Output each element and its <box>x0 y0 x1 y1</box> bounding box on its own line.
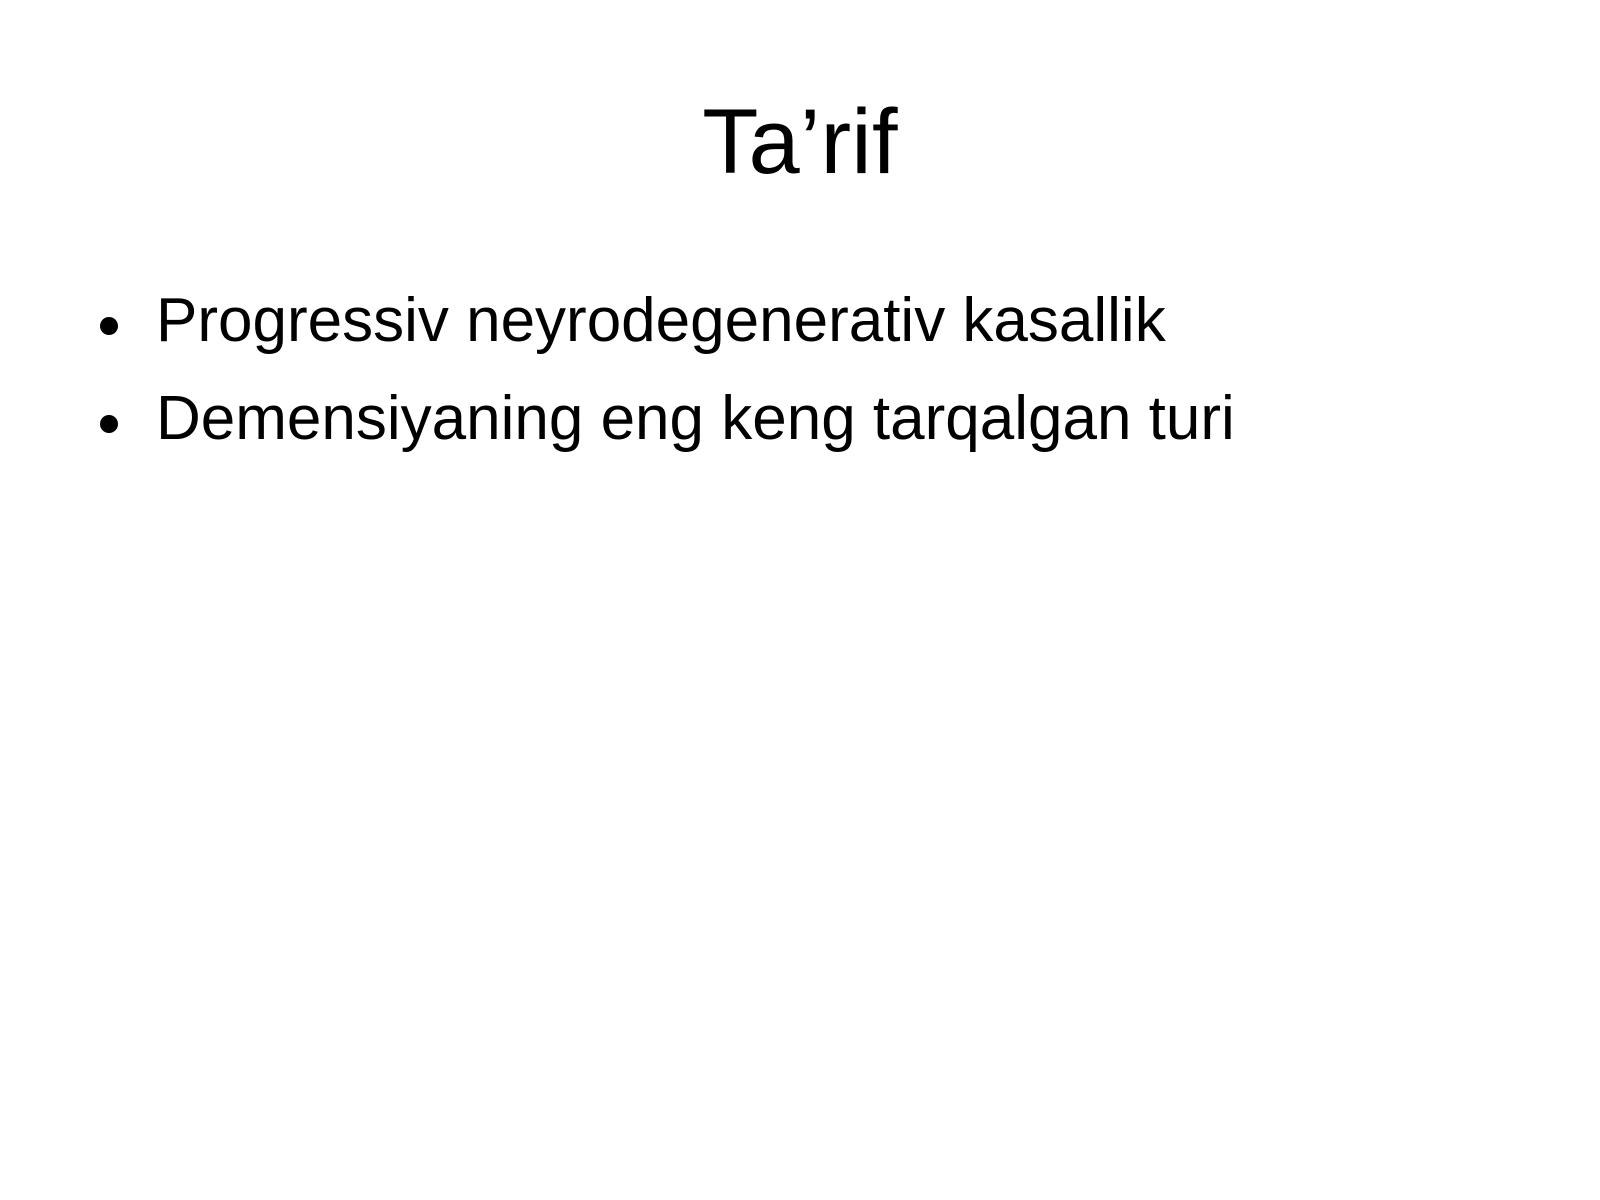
list-item-label: Progressiv neyrodegenerativ kasallik <box>156 290 1166 352</box>
list-item: Demensiyaning eng keng tarqalgan turi <box>88 388 1528 450</box>
presentation-slide: Ta’rif Progressiv neyrodegenerativ kasal… <box>0 0 1600 1200</box>
bullet-list: Progressiv neyrodegenerativ kasallik Dem… <box>88 290 1528 450</box>
bullet-dot-icon <box>100 415 118 433</box>
slide-body: Progressiv neyrodegenerativ kasallik Dem… <box>88 290 1528 450</box>
page-title: Ta’rif <box>0 96 1600 188</box>
list-item-label: Demensiyaning eng keng tarqalgan turi <box>156 388 1235 450</box>
list-item: Progressiv neyrodegenerativ kasallik <box>88 290 1528 352</box>
bullet-dot-icon <box>100 317 118 335</box>
